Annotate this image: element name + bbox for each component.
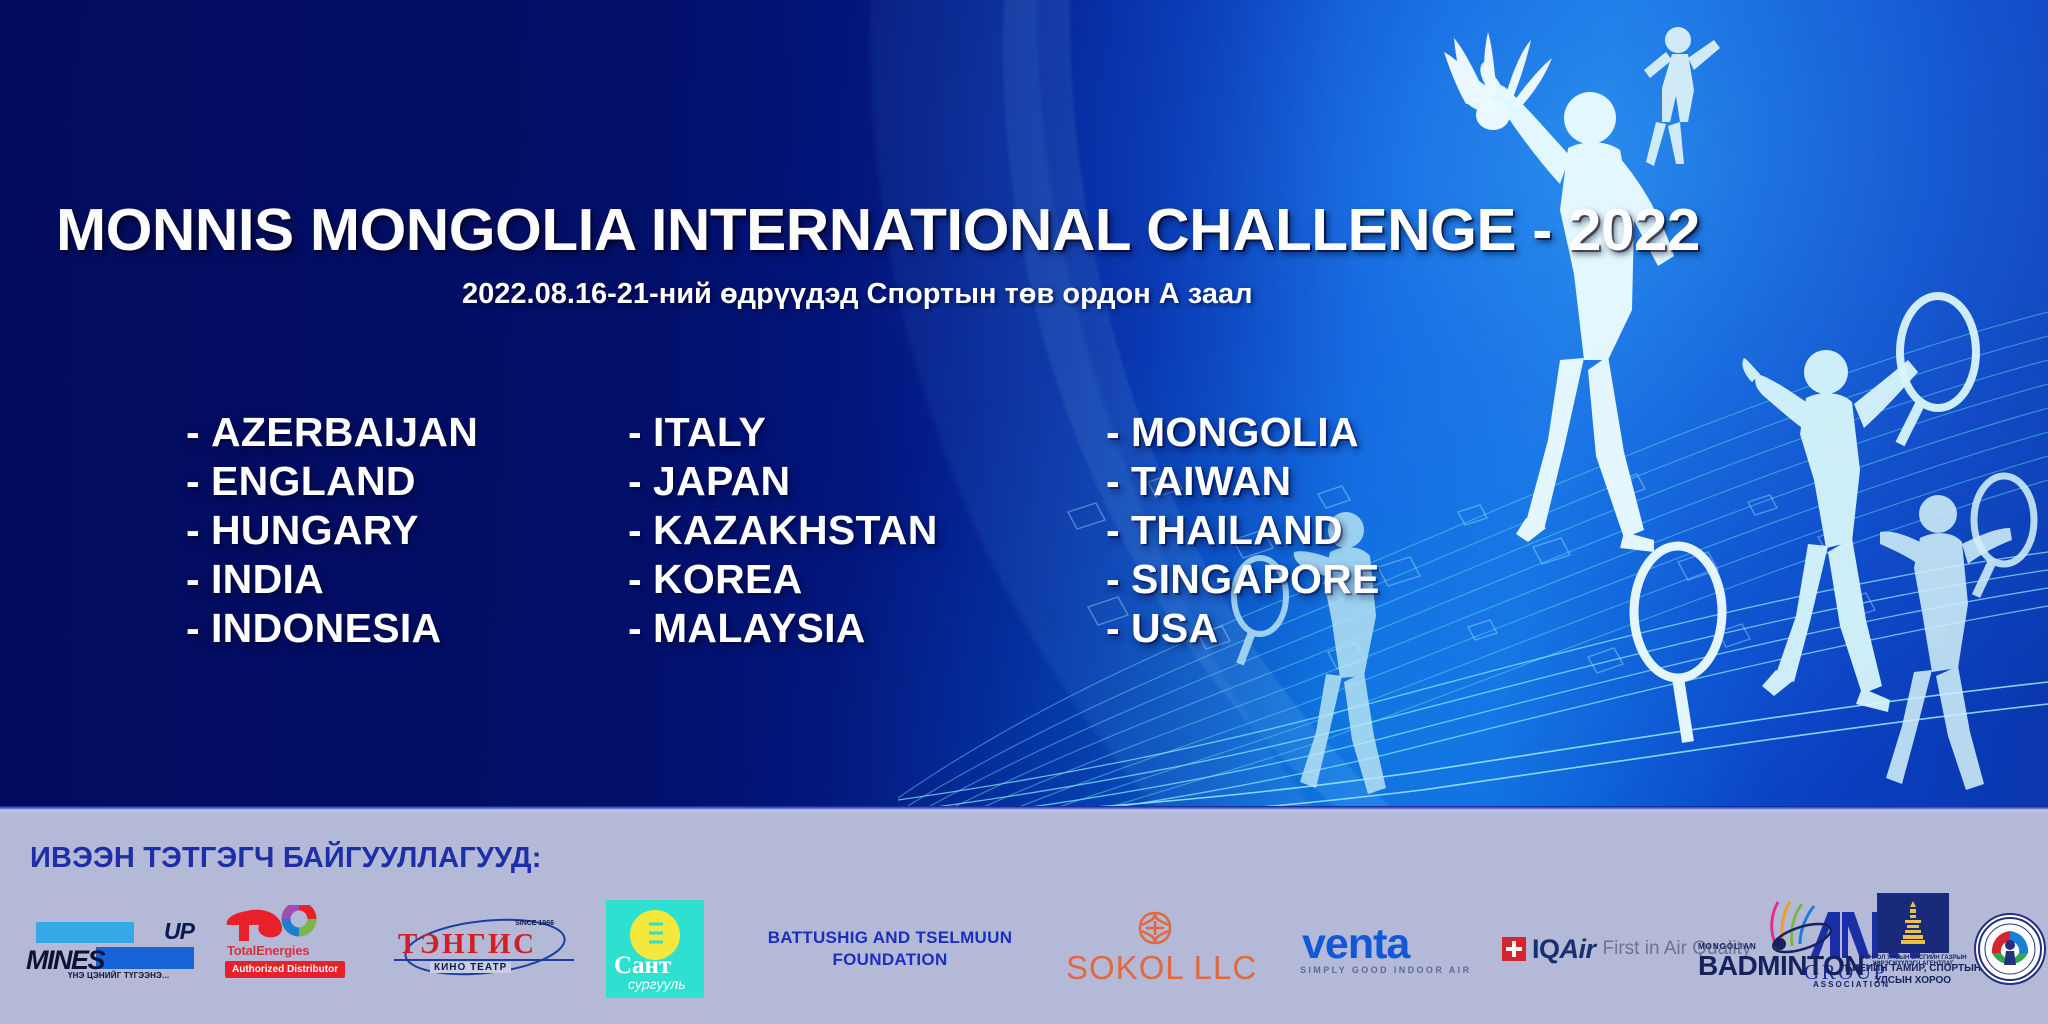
bullet-dash: - xyxy=(628,409,642,455)
bullet-dash: - xyxy=(186,507,200,553)
tengis-wordmark: ТЭНГИС xyxy=(398,928,537,961)
mines-up-text: UP xyxy=(164,918,194,945)
bullet-dash: - xyxy=(186,409,200,455)
badminton-racket-icon xyxy=(1634,546,1722,742)
sponsor-logo-mines-up[interactable]: UP MINES ҮНЭ ЦЭНИЙГ ТҮГЭЭНЭ... xyxy=(20,890,200,1008)
venta-wordmark: venta xyxy=(1302,920,1409,969)
sports-committee-name: БИЕИЙН ТАМИР, СПОРТЫН УЛСЫН ХОРОО xyxy=(1840,963,1986,987)
mines-bar-light xyxy=(36,922,134,943)
tengis-subtitle: КИНО ТЕАТР xyxy=(430,962,511,973)
bullet-dash: - xyxy=(1106,556,1120,602)
country-column-3: -MONGOLIA -TAIWAN -THAILAND -SINGAPORE -… xyxy=(1106,408,1380,653)
bullet-dash: - xyxy=(628,556,642,602)
list-item: -INDONESIA xyxy=(186,604,478,653)
sports-committee-line-1: БИЕИЙН ТАМИР, СПОРТЫН xyxy=(1845,963,1981,974)
ulaanbaatar-sport-seal-icon xyxy=(1974,913,2046,985)
country-name: KAZAKHSTAN xyxy=(653,507,938,553)
country-name: INDIA xyxy=(211,556,324,602)
country-name: ENGLAND xyxy=(211,458,416,504)
list-item: -ENGLAND xyxy=(186,457,478,506)
venta-tagline: SIMPLY GOOD INDOOR AIR xyxy=(1300,965,1471,975)
list-item: -TAIWAN xyxy=(1106,457,1380,506)
sokol-knot-icon xyxy=(1124,907,1186,949)
sokol-wordmark: SOKOL LLC xyxy=(1066,949,1257,987)
totalenergies-mark-icon xyxy=(211,905,379,945)
bullet-dash: - xyxy=(186,458,200,504)
sponsor-logo-sports-committee[interactable]: МОНГОЛ УЛСЫН ЗАСГИЙН ГАЗРЫН ХЭРЭГЖҮҮЛЭГЧ… xyxy=(1838,890,1988,1008)
sponsor-logo-sant[interactable]: Сант сургууль xyxy=(596,890,714,1008)
country-name: JAPAN xyxy=(653,458,790,504)
country-name: AZERBAIJAN xyxy=(211,409,478,455)
list-item: -THAILAND xyxy=(1106,506,1380,555)
sponsor-logo-battushig-foundation[interactable]: BATTUSHIG AND TSELMUUN FOUNDATION xyxy=(740,890,1040,1008)
country-name: THAILAND xyxy=(1131,507,1343,553)
bullet-dash: - xyxy=(1106,507,1120,553)
tengis-rule xyxy=(394,959,574,961)
hero-banner: MONNIS MONGOLIA INTERNATIONAL CHALLENGE … xyxy=(0,0,2048,812)
sports-committee-line-2: УЛСЫН ХОРОО xyxy=(1875,975,1951,986)
sponsors-heading: ИВЭЭН ТЭТГЭГЧ БАЙГУУЛЛАГУУД: xyxy=(30,842,542,875)
country-name: MONGOLIA xyxy=(1131,409,1359,455)
totalenergies-distributor-badge: Authorized Distributor xyxy=(225,961,345,978)
list-item: -KOREA xyxy=(628,555,938,604)
totalenergies-wordmark: TotalEnergies xyxy=(227,943,309,958)
bullet-dash: - xyxy=(186,605,200,651)
badminton-player-silhouette xyxy=(1880,495,2012,790)
country-name: MALAYSIA xyxy=(653,605,866,651)
sponsor-logo-ulaanbaatar-sport[interactable] xyxy=(1972,890,2048,1008)
bullet-dash: - xyxy=(1106,458,1120,504)
bullet-dash: - xyxy=(628,507,642,553)
bullet-dash: - xyxy=(628,458,642,504)
country-name: HUNGARY xyxy=(211,507,419,553)
bullet-dash: - xyxy=(1106,409,1120,455)
sponsor-logo-row: UP MINES ҮНЭ ЦЭНИЙГ ТҮГЭЭНЭ... xyxy=(0,890,2048,1010)
list-item: -MALAYSIA xyxy=(628,604,938,653)
list-item: -INDIA xyxy=(186,555,478,604)
soyombo-emblem-icon xyxy=(1893,899,1933,947)
bullet-dash: - xyxy=(628,605,642,651)
list-item: -HUNGARY xyxy=(186,506,478,555)
list-item: -MONGOLIA xyxy=(1106,408,1380,457)
country-name: INDONESIA xyxy=(211,605,442,651)
tournament-poster: MONNIS MONGOLIA INTERNATIONAL CHALLENGE … xyxy=(0,0,2048,1024)
page-title: MONNIS MONGOLIA INTERNATIONAL CHALLENGE … xyxy=(56,196,1372,264)
swiss-flag-icon xyxy=(1502,937,1526,961)
sport-seal-graphic-icon xyxy=(1976,915,2044,983)
iqair-iq-text: IQ xyxy=(1532,934,1560,964)
tengis-since-text: SINCE 1966 xyxy=(515,920,554,927)
battushig-line-1: BATTUSHIG AND TSELMUUN xyxy=(768,927,1013,949)
badminton-player-silhouette xyxy=(1644,27,1720,166)
mines-bar-dark xyxy=(96,947,194,969)
country-name: USA xyxy=(1131,605,1218,651)
country-name: SINGAPORE xyxy=(1131,556,1380,602)
list-item: -USA xyxy=(1106,604,1380,653)
sponsor-logo-tengis[interactable]: SINCE 1966 ТЭНГИС КИНО ТЕАТР xyxy=(390,890,580,1008)
list-item: -KAZAKHSTAN xyxy=(628,506,938,555)
country-name: TAIWAN xyxy=(1131,458,1291,504)
sponsor-logo-venta[interactable]: venta SIMPLY GOOD INDOOR AIR xyxy=(1290,890,1490,1008)
sant-s-glyph-icon xyxy=(646,920,666,948)
government-emblem-icon xyxy=(1877,893,1949,953)
country-name: ITALY xyxy=(653,409,766,455)
list-item: -ITALY xyxy=(628,408,938,457)
badminton-player-silhouette xyxy=(1742,350,1918,712)
badminton-shuttle-mark-icon xyxy=(1742,898,1852,954)
mines-tagline: ҮНЭ ЦЭНИЙГ ТҮГЭЭНЭ... xyxy=(68,971,169,980)
list-item: -JAPAN xyxy=(628,457,938,506)
country-column-2: -ITALY -JAPAN -KAZAKHSTAN -KOREA -MALAYS… xyxy=(628,408,938,653)
sponsors-footer: ИВЭЭН ТЭТГЭГЧ БАЙГУУЛЛАГУУД: UP MINES ҮН… xyxy=(0,812,2048,1024)
event-dates-venue: 2022.08.16-21-ний өдрүүдэд Спортын төв о… xyxy=(462,278,1253,311)
sant-subtitle: сургууль xyxy=(628,976,686,992)
sponsor-logo-sokol-llc[interactable]: SOKOL LLC xyxy=(1060,890,1270,1008)
bullet-dash: - xyxy=(186,556,200,602)
iqair-air-text: Air xyxy=(1560,934,1596,964)
participating-countries-list: -AZERBAIJAN -ENGLAND -HUNGARY -INDIA -IN… xyxy=(0,408,1450,698)
list-item: -AZERBAIJAN xyxy=(186,408,478,457)
bullet-dash: - xyxy=(1106,605,1120,651)
battushig-line-2: FOUNDATION xyxy=(768,949,1013,971)
country-column-1: -AZERBAIJAN -ENGLAND -HUNGARY -INDIA -IN… xyxy=(186,408,478,653)
list-item: -SINGAPORE xyxy=(1106,555,1380,604)
country-name: KOREA xyxy=(653,556,803,602)
sponsor-logo-totalenergies[interactable]: TotalEnergies Authorized Distributor xyxy=(210,890,380,1008)
badminton-player-silhouette xyxy=(1468,62,1674,552)
